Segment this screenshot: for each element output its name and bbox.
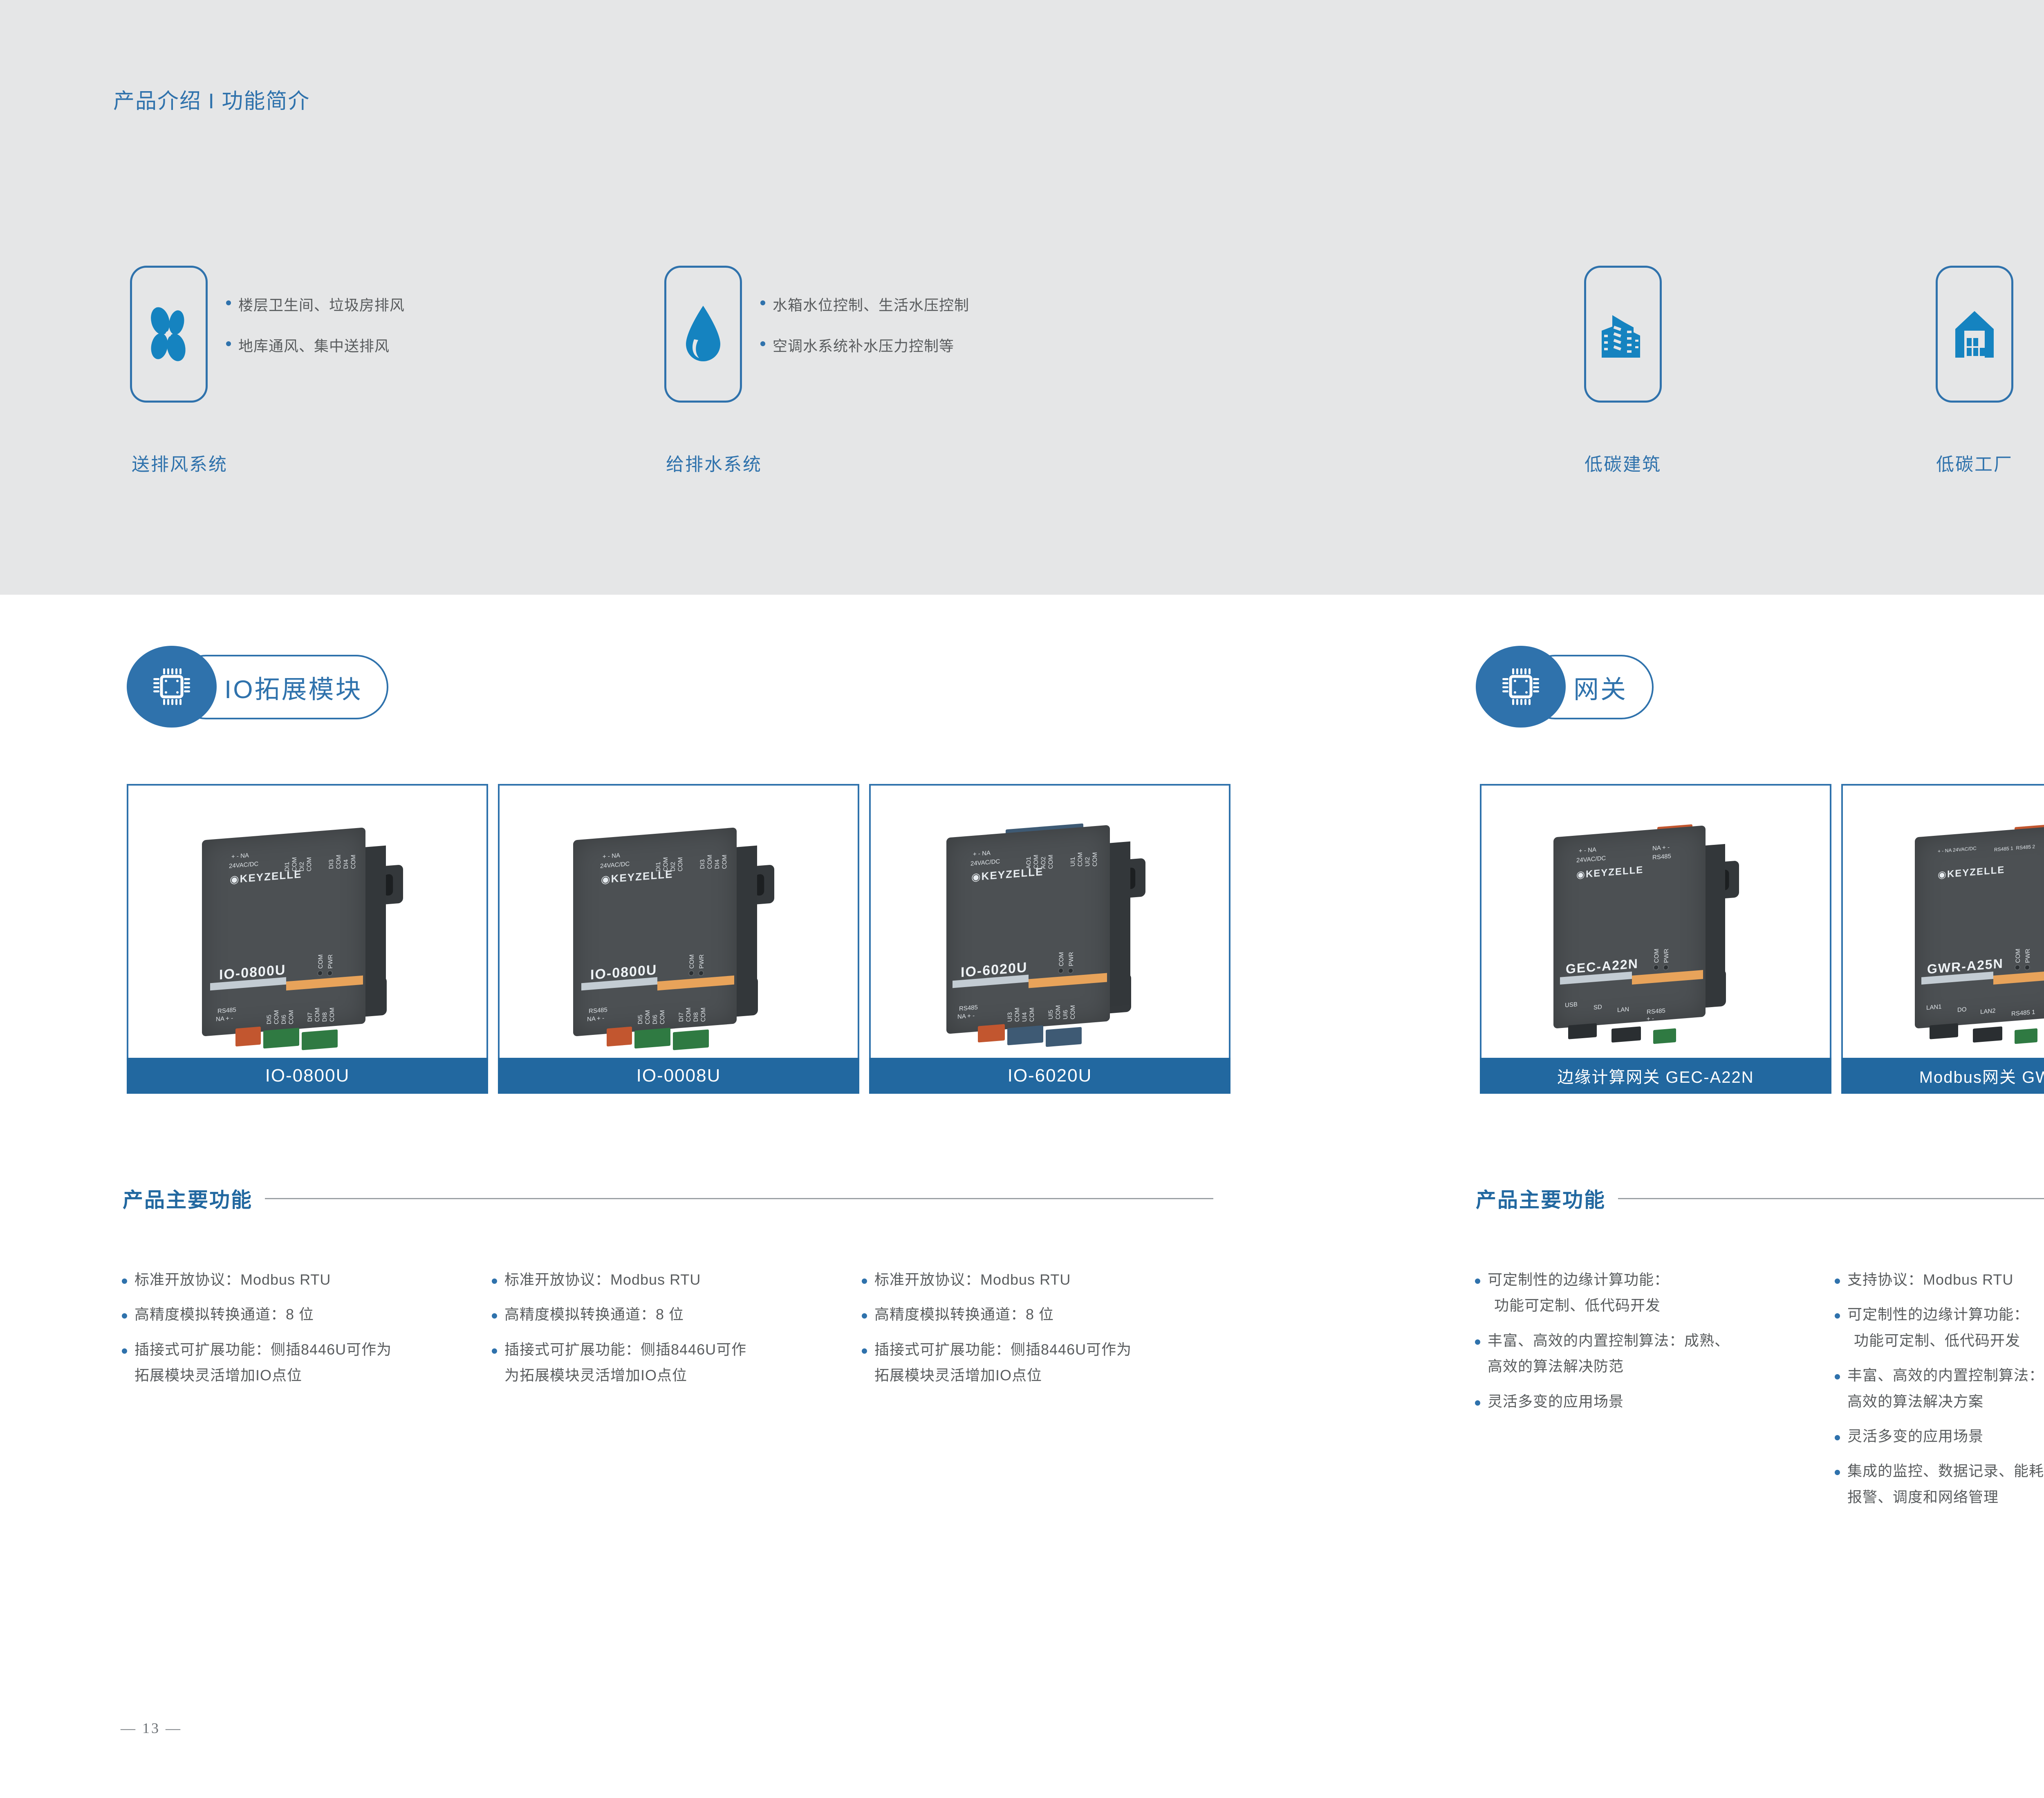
fan-icon — [142, 304, 195, 365]
bullet-dot-icon — [122, 1279, 127, 1284]
scene-label: 低碳建筑 — [1570, 450, 1676, 476]
bullet-dot-icon — [862, 1279, 867, 1284]
feature-line: 插接式可扩展功能：侧插8446U可作 — [504, 1341, 746, 1358]
product-card[interactable]: + - NA 24VAC/DC DI1 COM DI2 COM DI3 COM … — [127, 784, 488, 1094]
feature-item: 高精度模拟转换通道：8 位 — [122, 1306, 492, 1323]
product-card[interactable]: + - NA 24VAC/DC AO1 COM AO2 COM UI1 COM … — [869, 784, 1230, 1094]
feature-line: 报警、调度和网络管理 — [1847, 1489, 2044, 1505]
feature-line: 集成的监控、数据记录、能耗计量、 — [1847, 1462, 2044, 1479]
bullet-dot-icon — [122, 1348, 127, 1354]
scene-label: 给排水系统 — [666, 450, 762, 476]
product-card-row-io: + - NA 24VAC/DC DI1 COM DI2 COM DI3 COM … — [127, 784, 1230, 1094]
feature-title-text: 产品主要功能 — [123, 1184, 253, 1213]
feature-item: 可定制性的边缘计算功能： 功能可定制、低代码开发 — [1475, 1271, 1835, 1314]
feature-line: 高效的算法解决防范 — [1488, 1358, 1730, 1375]
feature-item: 灵活多变的应用场景 — [1835, 1428, 2044, 1444]
bullet-text: 空调水系统补水压力控制等 — [773, 334, 954, 356]
feature-line: 标准开放协议：Modbus RTU — [874, 1271, 1071, 1288]
chip-icon-circle — [1476, 646, 1566, 728]
brochure-page: 产品介绍 I 功能简介 产品介绍 I 功能简介 楼层卫生间、垃圾房排风 — [0, 0, 2044, 1798]
device-illustration: + - NA 24VAC/DC DI1 COM DI2 COM DI3 COM … — [128, 786, 488, 1058]
feature-line: 支持协议：Modbus RTU — [1847, 1271, 2013, 1288]
feature-line: 拓展模块灵活增加IO点位 — [134, 1367, 392, 1384]
scene-label: 送排风系统 — [132, 450, 228, 476]
feature-item: 高精度模拟转换通道：8 位 — [492, 1306, 862, 1323]
feature-line: 高效的算法解决方案 — [1847, 1393, 2044, 1410]
feature-line: 灵活多变的应用场景 — [1488, 1393, 1624, 1410]
bullet-dot-icon — [1835, 1470, 1840, 1475]
bullet-dot-icon — [1835, 1374, 1840, 1379]
product-caption: IO-6020U — [869, 1058, 1230, 1094]
feature-title-io: 产品主要功能 — [123, 1184, 1226, 1213]
feature-line: 可定制性的边缘计算功能： — [1488, 1271, 1669, 1288]
feature-item: 可定制性的边缘计算功能： 功能可定制、低代码开发 — [1835, 1306, 2044, 1349]
feature-line: 功能可定制、低代码开发 — [1488, 1297, 1669, 1314]
chip-icon — [1498, 664, 1543, 709]
feature-item: 插接式可扩展功能：侧插8446U可作 为拓展模块灵活增加IO点位 — [492, 1341, 862, 1384]
feature-line: 丰富、高效的内置控制算法：成熟、 — [1488, 1332, 1730, 1349]
bullet-dot-icon — [492, 1348, 497, 1354]
feature-title-rule — [265, 1198, 1213, 1199]
feature-line: 高精度模拟转换通道：8 位 — [504, 1306, 684, 1323]
factory-icon — [1948, 304, 2001, 365]
feature-line: 丰富、高效的内置控制算法：成熟、 — [1847, 1367, 2044, 1384]
feature-columns-io: 标准开放协议：Modbus RTU 高精度模拟转换通道：8 位 插接式可扩展功能… — [122, 1271, 1232, 1402]
fan-icon-box — [130, 266, 208, 403]
bullet-text: 地库通风、集中送排风 — [238, 334, 390, 356]
feature-columns-gateway: 可定制性的边缘计算功能： 功能可定制、低代码开发 丰富、高效的内置控制算法：成熟… — [1475, 1271, 2044, 1523]
feature-item: 丰富、高效的内置控制算法：成熟、 高效的算法解决方案 — [1835, 1367, 2044, 1410]
product-caption: 边缘计算网关 GEC-A22N — [1480, 1058, 1831, 1094]
feature-line: 功能可定制、低代码开发 — [1847, 1332, 2029, 1349]
product-card-row-gateway: + - NA 24VAC/DC NA + - RS485 ◉KEYZELLE G… — [1480, 784, 2044, 1094]
product-card[interactable]: + - NA 24VAC/DC NA + - RS485 ◉KEYZELLE G… — [1480, 784, 1831, 1094]
bullet-dot-icon — [1475, 1339, 1480, 1345]
product-image-frame: + - NA 24VAC/DC DI1 COM DI2 COM DI3 COM … — [498, 784, 859, 1058]
product-image-frame: + - NA 24VAC/DC RS485 1 RS485 2 ◉KEYZELL… — [1841, 784, 2044, 1058]
bullet-item: 地库通风、集中送排风 — [226, 334, 405, 356]
feature-line: 高精度模拟转换通道：8 位 — [134, 1306, 314, 1323]
feature-item: 高精度模拟转换通道：8 位 — [862, 1306, 1232, 1323]
bullet-dot-icon — [760, 300, 765, 305]
feature-item: 插接式可扩展功能：侧插8446U可作为 拓展模块灵活增加IO点位 — [862, 1341, 1232, 1384]
badge-label: 网关 — [1573, 669, 1627, 705]
feature-item: 丰富、高效的内置控制算法：成熟、 高效的算法解决防范 — [1475, 1332, 1835, 1375]
feature-line: 拓展模块灵活增加IO点位 — [874, 1367, 1132, 1384]
bullet-text: 水箱水位控制、生活水压控制 — [773, 293, 969, 315]
feature-item: 标准开放协议：Modbus RTU — [492, 1271, 862, 1288]
bullet-dot-icon — [1475, 1400, 1480, 1406]
device-illustration: + - NA 24VAC/DC NA + - RS485 ◉KEYZELLE G… — [1481, 786, 1831, 1058]
feature-column: 支持协议：Modbus RTU 可定制性的边缘计算功能： 功能可定制、低代码开发… — [1835, 1271, 2044, 1523]
bullet-dot-icon — [1835, 1279, 1840, 1284]
bullet-text: 楼层卫生间、垃圾房排风 — [238, 293, 405, 315]
feature-column: 标准开放协议：Modbus RTU 高精度模拟转换通道：8 位 插接式可扩展功能… — [122, 1271, 492, 1402]
feature-title-rule — [1618, 1198, 2044, 1199]
feature-item: 灵活多变的应用场景 — [1475, 1393, 1835, 1410]
bullet-dot-icon — [760, 341, 765, 346]
feature-line: 标准开放协议：Modbus RTU — [134, 1271, 331, 1288]
office-building-icon — [1594, 304, 1652, 365]
bullet-item: 水箱水位控制、生活水压控制 — [760, 293, 969, 315]
feature-column: 标准开放协议：Modbus RTU 高精度模拟转换通道：8 位 插接式可扩展功能… — [862, 1271, 1232, 1402]
feature-line: 灵活多变的应用场景 — [1847, 1428, 1983, 1444]
bullet-dot-icon — [226, 300, 231, 305]
chip-icon — [149, 664, 194, 709]
feature-item: 标准开放协议：Modbus RTU — [122, 1271, 492, 1288]
product-image-frame: + - NA 24VAC/DC NA + - RS485 ◉KEYZELLE G… — [1480, 784, 1831, 1058]
product-card[interactable]: + - NA 24VAC/DC DI1 COM DI2 COM DI3 COM … — [498, 784, 859, 1094]
product-image-frame: + - NA 24VAC/DC DI1 COM DI2 COM DI3 COM … — [127, 784, 488, 1058]
device-illustration: + - NA 24VAC/DC RS485 1 RS485 2 ◉KEYZELL… — [1843, 786, 2044, 1058]
scene-label: 低碳工厂 — [1921, 450, 2028, 476]
product-card[interactable]: + - NA 24VAC/DC RS485 1 RS485 2 ◉KEYZELL… — [1841, 784, 2044, 1094]
feature-item: 支持协议：Modbus RTU — [1835, 1271, 2044, 1288]
scene-water-bullets: 水箱水位控制、生活水压控制 空调水系统补水压力控制等 — [760, 293, 969, 356]
header-title-left: 产品介绍 I 功能简介 — [113, 84, 310, 114]
feature-title-text: 产品主要功能 — [1476, 1184, 1606, 1213]
feature-item: 插接式可扩展功能：侧插8446U可作为 拓展模块灵活增加IO点位 — [122, 1341, 492, 1384]
badge-label: IO拓展模块 — [224, 669, 362, 705]
feature-line: 高精度模拟转换通道：8 位 — [874, 1306, 1054, 1323]
product-image-frame: + - NA 24VAC/DC AO1 COM AO2 COM UI1 COM … — [869, 784, 1230, 1058]
bullet-dot-icon — [862, 1313, 867, 1319]
page-number-left: — 13 — — [121, 1720, 182, 1737]
bullet-dot-icon — [1835, 1435, 1840, 1440]
scene-water-supply: 水箱水位控制、生活水压控制 空调水系统补水压力控制等 给排水系统 — [664, 266, 1155, 495]
chip-icon-circle — [127, 646, 217, 728]
feature-item: 标准开放协议：Modbus RTU — [862, 1271, 1232, 1288]
bullet-dot-icon — [492, 1279, 497, 1284]
feature-line: 插接式可扩展功能：侧插8446U可作为 — [874, 1341, 1132, 1358]
office-building-icon-box — [1584, 266, 1662, 403]
factory-icon-box — [1936, 266, 2013, 403]
bullet-dot-icon — [226, 341, 231, 346]
feature-title-gateway: 产品主要功能 — [1476, 1184, 2044, 1213]
bullet-dot-icon — [1475, 1279, 1480, 1284]
scene-ventilation: 楼层卫生间、垃圾房排风 地库通风、集中送排风 送排风系统 — [130, 266, 580, 495]
device-illustration: + - NA 24VAC/DC AO1 COM AO2 COM UI1 COM … — [871, 786, 1230, 1058]
feature-column: 标准开放协议：Modbus RTU 高精度模拟转换通道：8 位 插接式可扩展功能… — [492, 1271, 862, 1402]
bullet-item: 楼层卫生间、垃圾房排风 — [226, 293, 405, 315]
bullet-dot-icon — [862, 1348, 867, 1354]
product-caption: IO-0008U — [498, 1058, 859, 1094]
feature-item: 集成的监控、数据记录、能耗计量、 报警、调度和网络管理 — [1835, 1462, 2044, 1505]
feature-line: 标准开放协议：Modbus RTU — [504, 1271, 701, 1288]
water-drop-icon-box — [664, 266, 742, 403]
bullet-dot-icon — [1835, 1313, 1840, 1319]
bullet-dot-icon — [122, 1313, 127, 1319]
feature-line: 可定制性的边缘计算功能： — [1847, 1306, 2029, 1323]
feature-column: 可定制性的边缘计算功能： 功能可定制、低代码开发 丰富、高效的内置控制算法：成熟… — [1475, 1271, 1835, 1523]
bullet-item: 空调水系统补水压力控制等 — [760, 334, 969, 356]
bullet-dot-icon — [492, 1313, 497, 1319]
product-caption: IO-0800U — [127, 1058, 488, 1094]
product-caption: Modbus网关 GWR-A25N — [1841, 1058, 2044, 1094]
feature-line: 插接式可扩展功能：侧插8446U可作为 — [134, 1341, 392, 1358]
water-drop-icon — [679, 302, 728, 367]
device-illustration: + - NA 24VAC/DC DI1 COM DI2 COM DI3 COM … — [500, 786, 859, 1058]
feature-line: 为拓展模块灵活增加IO点位 — [504, 1367, 746, 1384]
scene-ventilation-bullets: 楼层卫生间、垃圾房排风 地库通风、集中送排风 — [226, 293, 405, 356]
